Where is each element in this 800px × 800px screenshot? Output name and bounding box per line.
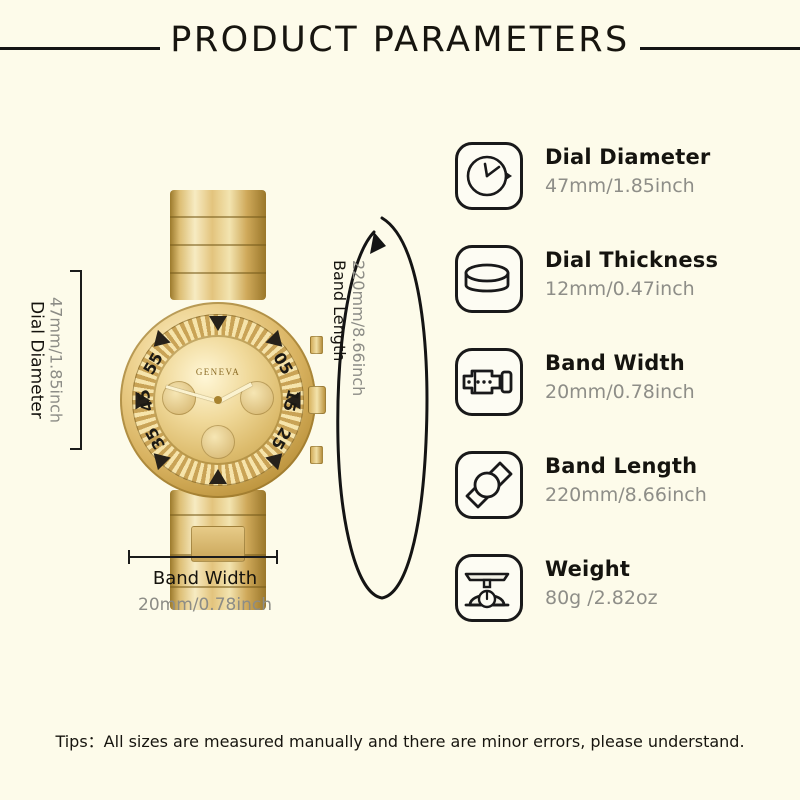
band-width-caliper-labels: Band Width 20mm/0.78inch (90, 568, 320, 615)
spec-label-band-length: Band Length (545, 454, 707, 478)
spec-row-dial-thickness: Dial Thickness 12mm/0.47inch (455, 245, 785, 348)
spec-value-band-width: 20mm/0.78inch (545, 381, 695, 403)
spec-label-band-width: Band Width (545, 351, 695, 375)
spec-label-dial-diameter: Dial Diameter (545, 145, 710, 169)
spec-text-dial-thickness: Dial Thickness 12mm/0.47inch (545, 245, 718, 300)
spec-row-band-width: Band Width 20mm/0.78inch (455, 348, 785, 451)
disc-thickness-icon (455, 245, 523, 313)
page-header: PRODUCT PARAMETERS (0, 12, 800, 68)
spec-label-dial-thickness: Dial Thickness (545, 248, 718, 272)
band-length-loop-label: Band Length (330, 260, 349, 361)
tips-note: Tips：All sizes are measured manually and… (0, 728, 800, 752)
bezel-marker-bottom (209, 469, 227, 484)
spec-text-band-width: Band Width 20mm/0.78inch (545, 348, 695, 403)
spec-text-weight: Weight 80g /2.82oz (545, 554, 658, 609)
dial-diameter-caliper-labels: Dial Diameter 47mm/1.85inch (24, 270, 68, 450)
dial-diameter-caliper (68, 270, 82, 450)
spec-label-weight: Weight (545, 557, 658, 581)
spec-row-band-length: Band Length 220mm/8.66inch (455, 451, 785, 554)
spec-value-dial-thickness: 12mm/0.47inch (545, 278, 718, 300)
band-length-loop-value: 220mm/8.66inch (349, 260, 368, 396)
watch-dial: GENEVA (153, 335, 283, 465)
spec-value-band-length: 220mm/8.66inch (545, 484, 707, 506)
spec-value-dial-diameter: 47mm/1.85inch (545, 175, 710, 197)
spec-row-dial-diameter: Dial Diameter 47mm/1.85inch (455, 142, 785, 245)
watch-pusher-bottom (310, 446, 323, 464)
watch-case: 55 05 45 15 35 25 GENEVA (120, 302, 316, 498)
dial-diameter-caliper-label: Dial Diameter (27, 301, 47, 419)
dial-diameter-caliper-value: 47mm/1.85inch (47, 297, 66, 423)
watch-crown (308, 386, 326, 414)
watch-product-image: 55 05 45 15 35 25 GENEVA (118, 190, 318, 610)
kitchen-scale-icon (455, 554, 523, 622)
watch-subdial-bottom (201, 425, 235, 459)
watch-hand-pin (214, 396, 222, 404)
spec-text-band-length: Band Length 220mm/8.66inch (545, 451, 707, 506)
spec-list: Dial Diameter 47mm/1.85inch Dial Thickne… (455, 142, 785, 622)
page-title: PRODUCT PARAMETERS (0, 20, 800, 60)
watch-pusher-top (310, 336, 323, 354)
product-parameters-page: PRODUCT PARAMETERS (0, 0, 800, 800)
watch-dial-icon (455, 142, 523, 210)
spec-text-dial-diameter: Dial Diameter 47mm/1.85inch (545, 142, 710, 197)
spec-value-weight: 80g /2.82oz (545, 587, 658, 609)
watch-band-top (170, 190, 266, 300)
band-width-caliper (128, 550, 278, 564)
watch-brand-text: GENEVA (153, 367, 283, 377)
band-length-loop-labels: Band Length 220mm/8.66inch (330, 260, 368, 490)
watch-strap-icon (455, 451, 523, 519)
spec-row-weight: Weight 80g /2.82oz (455, 554, 785, 622)
bezel-marker-top (209, 316, 227, 331)
watch-illustration: 55 05 45 15 35 25 GENEVA (30, 130, 450, 650)
band-width-caliper-label: Band Width (90, 568, 320, 589)
buckle-icon (455, 348, 523, 416)
band-width-caliper-value: 20mm/0.78inch (90, 595, 320, 615)
